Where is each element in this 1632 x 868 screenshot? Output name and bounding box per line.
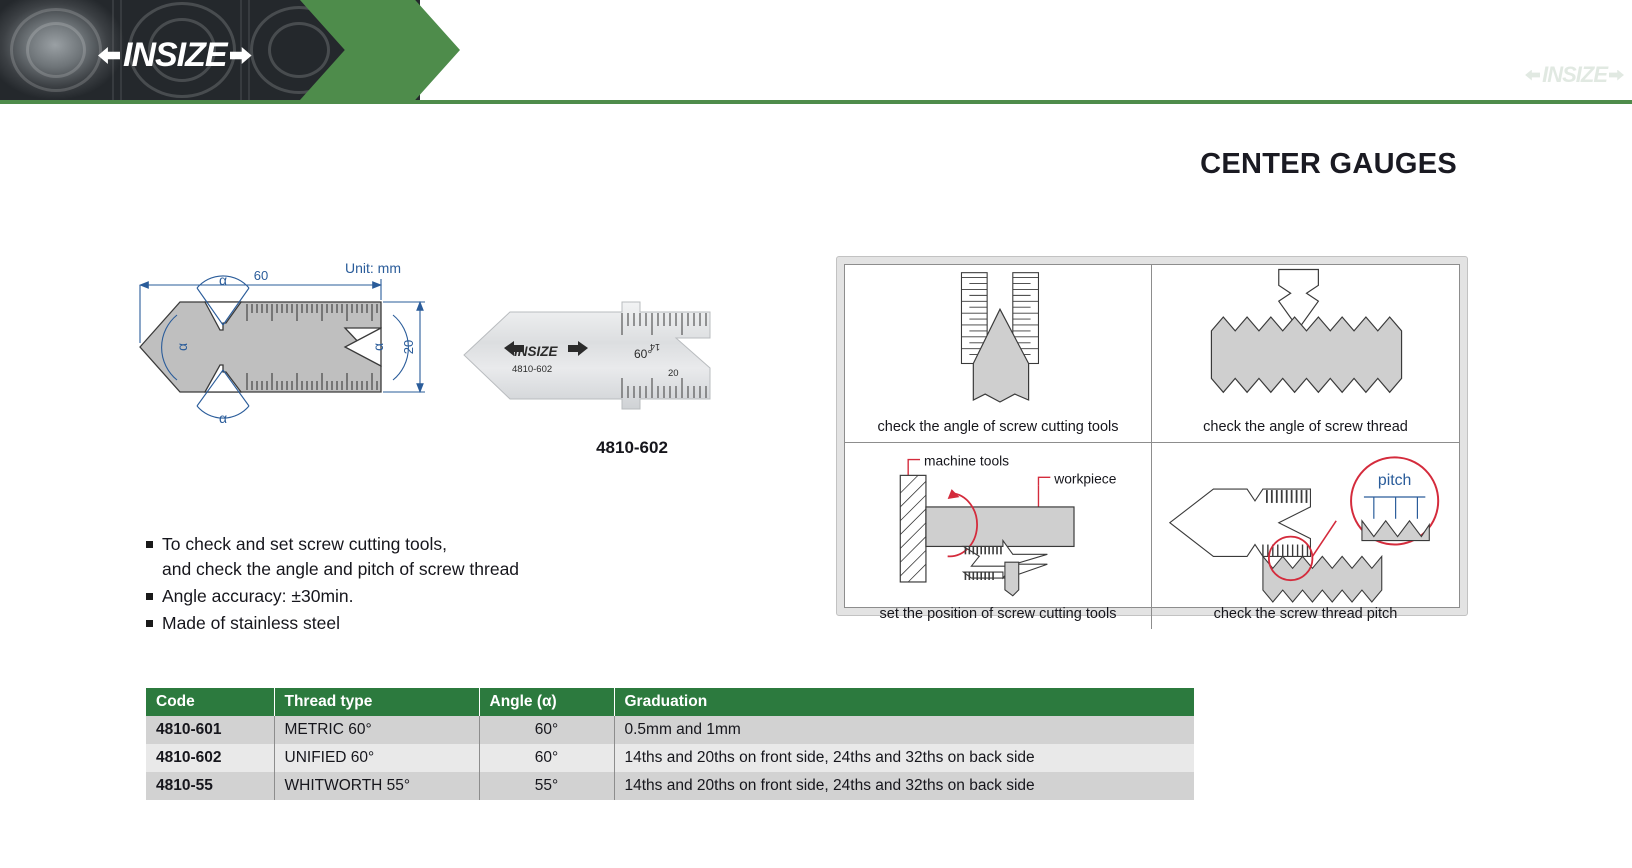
column-header-graduation: Graduation	[614, 688, 1194, 716]
watermark-wordmark: INSIZE	[1542, 62, 1607, 88]
table-row: 4810-601 METRIC 60° 60° 0.5mm and 1mm	[146, 716, 1194, 744]
feature-text: To check and set screw cutting tools, an…	[162, 532, 519, 582]
logo-left-arrow-icon	[98, 47, 120, 64]
insize-watermark: INSIZE	[1525, 62, 1624, 88]
table-row: 4810-602 UNIFIED 60° 60° 14ths and 20ths…	[146, 744, 1194, 772]
angle-label-left: α	[174, 343, 190, 351]
cell-code: 4810-601	[146, 716, 274, 744]
catalog-page: INSIZE INSIZE CENTER GAUGES Unit: mm	[0, 0, 1632, 868]
watermark-left-arrow-icon	[1525, 70, 1540, 81]
cell-thread-type: WHITWORTH 55°	[274, 772, 479, 800]
cell-graduation: 14ths and 20ths on front side, 24ths and…	[614, 772, 1194, 800]
cell-graduation: 0.5mm and 1mm	[614, 716, 1194, 744]
application-cell-4: pitch check the screw thread pitch	[1152, 443, 1459, 629]
column-header-thread-type: Thread type	[274, 688, 479, 716]
art-check-thread-angle	[1152, 265, 1459, 419]
list-item: Made of stainless steel	[146, 611, 706, 636]
application-caption: check the screw thread pitch	[1152, 606, 1459, 629]
angle-label-bottom: α	[219, 410, 227, 426]
scale-label-14: 14	[650, 342, 660, 352]
dim-length-label: 60	[254, 268, 268, 283]
art-check-tool-angle	[845, 265, 1151, 419]
scale-label-20: 20	[668, 368, 679, 379]
feature-text: Angle accuracy: ±30min.	[162, 584, 354, 609]
engraved-angle: 60°	[634, 347, 652, 361]
bullet-icon	[146, 620, 153, 627]
label-workpiece: workpiece	[1053, 470, 1116, 486]
cell-angle: 60°	[479, 716, 614, 744]
product-photo: INSIZE 4810-602 60° 14	[462, 288, 802, 423]
column-header-code: Code	[146, 688, 274, 716]
cell-thread-type: UNIFIED 60°	[274, 744, 479, 772]
angle-label-top: α	[219, 272, 227, 288]
application-caption: check the angle of screw thread	[1152, 419, 1459, 442]
table-header-row: Code Thread type Angle (α) Graduation	[146, 688, 1194, 716]
art-check-thread-pitch: pitch	[1152, 443, 1459, 606]
logo-right-arrow-icon	[230, 47, 252, 64]
specification-table: Code Thread type Angle (α) Graduation 48…	[146, 688, 1194, 800]
cell-code: 4810-602	[146, 744, 274, 772]
cell-angle: 60°	[479, 744, 614, 772]
application-panel: check the angle of screw cutting tools c…	[836, 256, 1468, 616]
cell-graduation: 14ths and 20ths on front side, 24ths and…	[614, 744, 1194, 772]
application-caption: check the angle of screw cutting tools	[845, 419, 1151, 442]
label-pitch: pitch	[1378, 472, 1411, 489]
page-header: INSIZE INSIZE	[0, 0, 1632, 104]
application-cell-1: check the angle of screw cutting tools	[845, 265, 1152, 443]
watermark-right-arrow-icon	[1609, 70, 1624, 81]
insize-logo: INSIZE	[98, 36, 252, 75]
engraved-code: 4810-602	[512, 364, 552, 375]
angle-label-right: α	[370, 343, 386, 351]
list-item: To check and set screw cutting tools, an…	[146, 532, 706, 582]
list-item: Angle accuracy: ±30min.	[146, 584, 706, 609]
table-row: 4810-55 WHITWORTH 55° 55° 14ths and 20th…	[146, 772, 1194, 800]
logo-wordmark: INSIZE	[123, 36, 227, 75]
column-header-angle: Angle (α)	[479, 688, 614, 716]
bullet-icon	[146, 541, 153, 548]
application-cell-2: check the angle of screw thread	[1152, 265, 1459, 443]
page-title: CENTER GAUGES	[1200, 148, 1457, 181]
art-set-tool-position: machine tools workpiece	[845, 443, 1151, 606]
application-cell-3: machine tools workpiece	[845, 443, 1152, 629]
bullet-icon	[146, 593, 153, 600]
label-machine-tools: machine tools	[924, 452, 1009, 468]
gauge-photo-outline	[464, 302, 710, 409]
product-code-caption: 4810-602	[462, 438, 802, 458]
feature-text: Made of stainless steel	[162, 611, 340, 636]
cell-code: 4810-55	[146, 772, 274, 800]
feature-list: To check and set screw cutting tools, an…	[146, 532, 706, 637]
cell-thread-type: METRIC 60°	[274, 716, 479, 744]
header-green-rule	[0, 100, 1632, 104]
dimension-drawing: 60 20 α α α α	[135, 255, 435, 440]
application-caption: set the position of screw cutting tools	[845, 606, 1151, 629]
cell-angle: 55°	[479, 772, 614, 800]
